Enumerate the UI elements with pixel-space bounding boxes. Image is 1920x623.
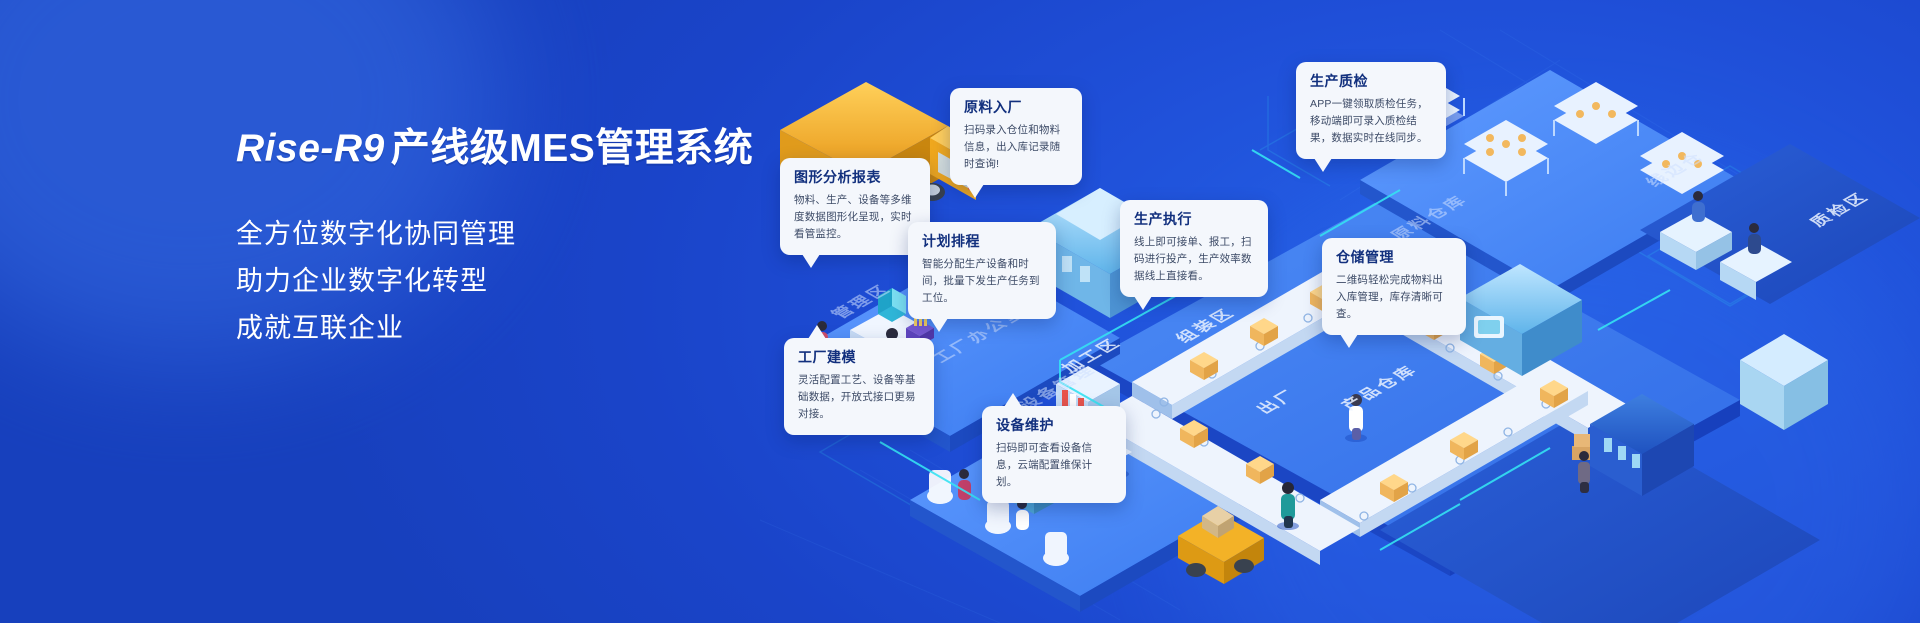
card-title: 图形分析报表 xyxy=(794,169,916,186)
card-title: 设备维护 xyxy=(996,417,1112,434)
hero-banner: Rise-R9产线级MES管理系统 全方位数字化协同管理 助力企业数字化转型 成… xyxy=(0,0,1920,623)
callout-tail-icon xyxy=(930,318,948,332)
callout-card-plan-scheduling[interactable]: 计划排程 智能分配生产设备和时间，批量下发生产任务到工位。 xyxy=(908,222,1056,319)
card-description: 物料、生产、设备等多维度数据图形化呈现，实时看管监控。 xyxy=(794,192,916,243)
card-description: 智能分配生产设备和时间，批量下发生产任务到工位。 xyxy=(922,256,1042,307)
card-title: 生产质检 xyxy=(1310,73,1432,90)
callout-card-production-execution[interactable]: 生产执行 线上即可接单、报工，扫码进行投产，生产效率数据线上直接看。 xyxy=(1120,200,1268,297)
callout-tail-icon xyxy=(966,184,984,198)
headline-product-name: Rise-R9 xyxy=(236,127,385,170)
card-title: 生产执行 xyxy=(1134,211,1254,228)
card-description: 灵活配置工艺、设备等基础数据，开放式接口更易对接。 xyxy=(798,372,920,423)
headline-chinese: 产线级MES管理系统 xyxy=(391,127,754,170)
callout-card-warehouse-management[interactable]: 仓储管理 二维码轻松完成物料出入库管理，库存清晰可查。 xyxy=(1322,238,1466,335)
card-description: 扫码即可查看设备信息，云端配置维保计划。 xyxy=(996,440,1112,491)
callout-card-production-quality-inspection[interactable]: 生产质检 APP一键领取质检任务，移动端即可录入质检结果，数据实时在线同步。 xyxy=(1296,62,1446,159)
callout-tail-icon xyxy=(802,254,820,268)
callout-tail-icon xyxy=(1314,158,1332,172)
card-description: 线上即可接单、报工，扫码进行投产，生产效率数据线上直接看。 xyxy=(1134,234,1254,285)
callout-card-equipment-maintenance[interactable]: 设备维护 扫码即可查看设备信息，云端配置维保计划。 xyxy=(982,406,1126,503)
callout-tail-icon xyxy=(1134,296,1152,310)
callout-tail-icon xyxy=(808,325,826,339)
card-title: 计划排程 xyxy=(922,233,1042,250)
callout-card-raw-material-inbound[interactable]: 原料入厂 扫码录入仓位和物料信息，出入库记录随时查询! xyxy=(950,88,1082,185)
card-title: 原料入厂 xyxy=(964,99,1068,116)
card-description: 二维码轻松完成物料出入库管理，库存清晰可查。 xyxy=(1336,272,1452,323)
card-description: APP一键领取质检任务，移动端即可录入质检结果，数据实时在线同步。 xyxy=(1310,96,1432,147)
callout-tail-icon xyxy=(1340,334,1358,348)
callout-card-factory-modeling[interactable]: 工厂建模 灵活配置工艺、设备等基础数据，开放式接口更易对接。 xyxy=(784,338,934,435)
card-title: 仓储管理 xyxy=(1336,249,1452,266)
callout-tail-icon xyxy=(1004,393,1022,407)
card-description: 扫码录入仓位和物料信息，出入库记录随时查询! xyxy=(964,122,1068,173)
card-title: 工厂建模 xyxy=(798,349,920,366)
